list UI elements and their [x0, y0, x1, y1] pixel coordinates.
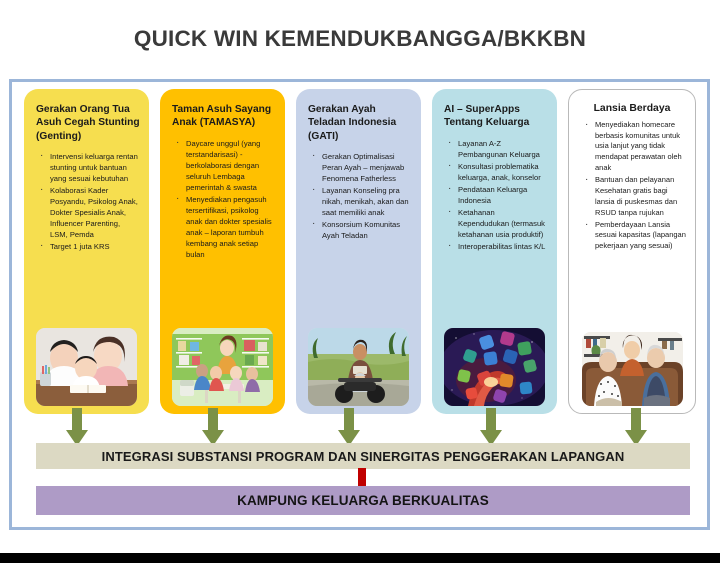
card-bullet-list: Layanan A-Z Pembangunan Keluarga Konsult… — [440, 138, 549, 252]
elderly-couple-family-photo — [582, 332, 683, 406]
integration-bar-label: INTEGRASI SUBSTANSI PROGRAM DAN SINERGIT… — [102, 449, 625, 464]
card-bullet: Gerakan Optimalisasi Peran Ayah – menjaw… — [322, 151, 411, 184]
program-card-genting[interactable]: Gerakan Orang Tua Asuh Cegah Stunting (G… — [24, 89, 149, 414]
card-bullet: Menyediakan pengasuh tersertifikasi, psi… — [186, 194, 275, 260]
app-icons-hand-photo — [444, 328, 545, 406]
card-title: Lansia Berdaya — [575, 102, 689, 116]
card-bullet: Intervensi keluarga rentan stunting untu… — [50, 151, 139, 184]
card-bullet-list: Daycare unggul (yang terstandarisasi) - … — [168, 138, 277, 260]
integration-bar: INTEGRASI SUBSTANSI PROGRAM DAN SINERGIT… — [36, 443, 690, 469]
page-title: QUICK WIN KEMENDUKBANGGA/BKKBN — [0, 26, 720, 52]
slide-canvas: QUICK WIN KEMENDUKBANGGA/BKKBN Gerakan O… — [0, 0, 720, 563]
card-title: AI – SuperApps Tentang Keluarga — [444, 103, 549, 130]
green-arrow-down-2 — [202, 408, 224, 446]
card-bullet: Konsultasi problematika keluarga, anak, … — [458, 161, 547, 183]
program-cards-row: Gerakan Orang Tua Asuh Cegah Stunting (G… — [9, 79, 710, 419]
card-title: Gerakan Ayah Teladan Indonesia (GATI) — [308, 103, 413, 143]
program-card-gati[interactable]: Gerakan Ayah Teladan Indonesia (GATI) Ge… — [296, 89, 421, 414]
program-card-tamasya[interactable]: Taman Asuh Sayang Anak (TAMASYA) Daycare… — [160, 89, 285, 414]
daycare-classroom-photo — [172, 328, 273, 406]
card-bullet: Pemberdayaan Lansia sesuai kapasitas (la… — [595, 220, 687, 253]
outcome-bar-label: KAMPUNG KELUARGA BERKUALITAS — [237, 493, 489, 508]
father-child-motorbike-photo — [308, 328, 409, 406]
card-bullet: Menyediakan homecare berbasis komunitas … — [595, 120, 687, 174]
card-bullet: Kolaborasi Kader Posyandu, Psikolog Anak… — [50, 185, 139, 240]
card-bullet: Ketahanan Kependudukan (termasuk ketahan… — [458, 207, 547, 240]
green-arrow-down-3 — [338, 408, 360, 446]
card-bullet: Layanan Konseling pra nikah, menikah, ak… — [322, 185, 411, 218]
card-bullet: Daycare unggul (yang terstandarisasi) - … — [186, 138, 275, 193]
card-bullet-list: Menyediakan homecare berbasis komunitas … — [575, 120, 689, 253]
green-arrow-down-5 — [625, 408, 647, 446]
card-bullet-list: Intervensi keluarga rentan stunting untu… — [32, 151, 141, 252]
card-bullet: Target 1 juta KRS — [50, 241, 139, 252]
card-bullet-list: Gerakan Optimalisasi Peran Ayah – menjaw… — [304, 151, 413, 241]
card-bullet: Pendataan Keluarga Indonesia — [458, 184, 547, 206]
card-bullet: Bantuan dan pelayanan Kesehatan gratis b… — [595, 175, 687, 219]
outcome-bar: KAMPUNG KELUARGA BERKUALITAS — [36, 486, 690, 515]
green-arrow-down-4 — [480, 408, 502, 446]
card-bullet: Konsorsium Komunitas Ayah Teladan — [322, 219, 411, 241]
card-title: Taman Asuh Sayang Anak (TAMASYA) — [172, 103, 277, 130]
green-arrow-down-1 — [66, 408, 88, 446]
family-reading-photo — [36, 328, 137, 406]
card-bullet: Interoperabilitas lintas K/L — [458, 241, 547, 252]
bottom-letterbox — [0, 553, 720, 563]
card-title: Gerakan Orang Tua Asuh Cegah Stunting (G… — [36, 103, 141, 143]
program-card-ai-superapps[interactable]: AI – SuperApps Tentang Keluarga Layanan … — [432, 89, 557, 414]
card-bullet: Layanan A-Z Pembangunan Keluarga — [458, 138, 547, 160]
program-card-lansia-berdaya[interactable]: Lansia Berdaya Menyediakan homecare berb… — [568, 89, 696, 414]
